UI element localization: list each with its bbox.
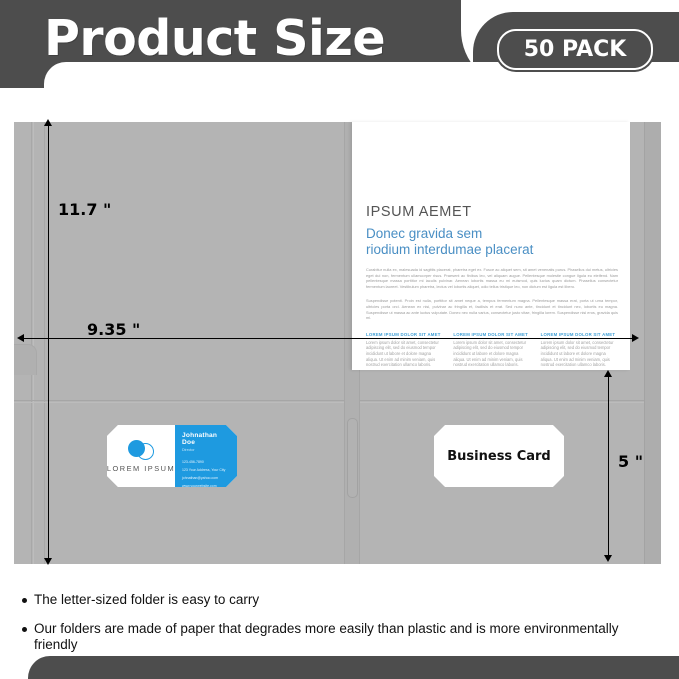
product-illustration: IPSUM AEMET Donec gravida sem riodium in… (0, 92, 679, 572)
pocket-fold-line-highlight (14, 402, 660, 403)
document-paragraph-2: Suspendisse potenti. Proin est nulla, po… (366, 298, 618, 320)
bullet-text: The letter-sized folder is easy to carry (34, 592, 259, 608)
list-item: The letter-sized folder is easy to carry (22, 592, 662, 608)
document-column-heading: LOREM IPSUM DOLOR SIT AMET (453, 332, 530, 337)
document-column-body: Lorem ipsum dolor sit amet, consectetur … (366, 340, 443, 368)
dimension-arrow-width-right (632, 334, 639, 342)
document-column-body: Lorem ipsum dolor sit amet, consectetur … (541, 340, 618, 368)
dimension-line-height (48, 125, 49, 561)
dimension-arrow-pocket-bottom (604, 555, 612, 562)
logo-circle-outline (137, 443, 154, 460)
page-title: Product Size (44, 10, 385, 67)
business-card-email: johnathan@yahoo.com (182, 476, 231, 480)
document-subtitle: Donec gravida sem riodium interdumae pla… (366, 226, 618, 258)
bullet-text: Our folders are made of paper that degra… (34, 621, 662, 653)
business-card-name: Johnathan Doe (182, 432, 231, 446)
folder-edge-line-3 (44, 122, 45, 564)
folder-card-slot (347, 418, 358, 498)
business-card-role: Director (182, 448, 231, 452)
business-card-address: 123 Your Address, Your City (182, 468, 231, 472)
bullet-dot-icon (22, 598, 27, 603)
bullet-dot-icon (22, 627, 27, 632)
dimension-label-width: 9.35 " (87, 320, 140, 339)
business-card-sample: LOREM IPSUM Johnathan Doe Director 123-4… (107, 425, 237, 487)
folder-edge-line-1 (31, 122, 32, 564)
status-badge: 50 PACK (497, 29, 653, 70)
dimension-arrow-pocket-top (604, 370, 612, 377)
document-paragraph-1: Curabitur nulla ex, malesuada id sagitti… (366, 267, 618, 289)
dimension-line-pocket (608, 376, 609, 558)
business-card-placeholder-label: Business Card (447, 449, 550, 464)
footer-bar (28, 656, 679, 679)
folder-right-edge (644, 122, 661, 564)
dimension-label-height: 11.7 " (58, 200, 111, 219)
pocket-fold-line (14, 400, 660, 401)
document-subtitle-line-2: riodium interdumae placerat (366, 242, 618, 258)
document-column-body: Lorem ipsum dolor sit amet, consectetur … (453, 340, 530, 368)
document-column-heading: LOREM IPSUM DOLOR SIT AMET (366, 332, 443, 337)
document-preview: IPSUM AEMET Donec gravida sem riodium in… (352, 122, 630, 370)
business-card-placeholder: Business Card (434, 425, 564, 487)
document-subtitle-line-1: Donec gravida sem (366, 226, 618, 242)
dimension-label-pocket: 5 " (618, 452, 643, 471)
list-item: Our folders are made of paper that degra… (22, 621, 662, 653)
folder-edge-line-2 (33, 122, 34, 564)
document-column-heading: LOREM IPSUM DOLOR SIT AMET (541, 332, 618, 337)
business-card-brand: LOREM IPSUM (107, 464, 175, 473)
folder-left-tab-notch (14, 344, 37, 375)
pack-count-label: 50 PACK (524, 37, 627, 62)
dimension-arrow-height-bottom (44, 558, 52, 565)
business-card-phone: 123-456-7890 (182, 460, 231, 464)
document-title: IPSUM AEMET (366, 204, 618, 220)
business-card-back: Johnathan Doe Director 123-456-7890 123 … (175, 425, 237, 487)
dimension-arrow-width-left (17, 334, 24, 342)
business-card-front: LOREM IPSUM (107, 425, 175, 487)
brand-logo-icon (128, 440, 154, 460)
dimension-arrow-height-top (44, 119, 52, 126)
feature-bullet-list: The letter-sized folder is easy to carry… (22, 592, 662, 666)
